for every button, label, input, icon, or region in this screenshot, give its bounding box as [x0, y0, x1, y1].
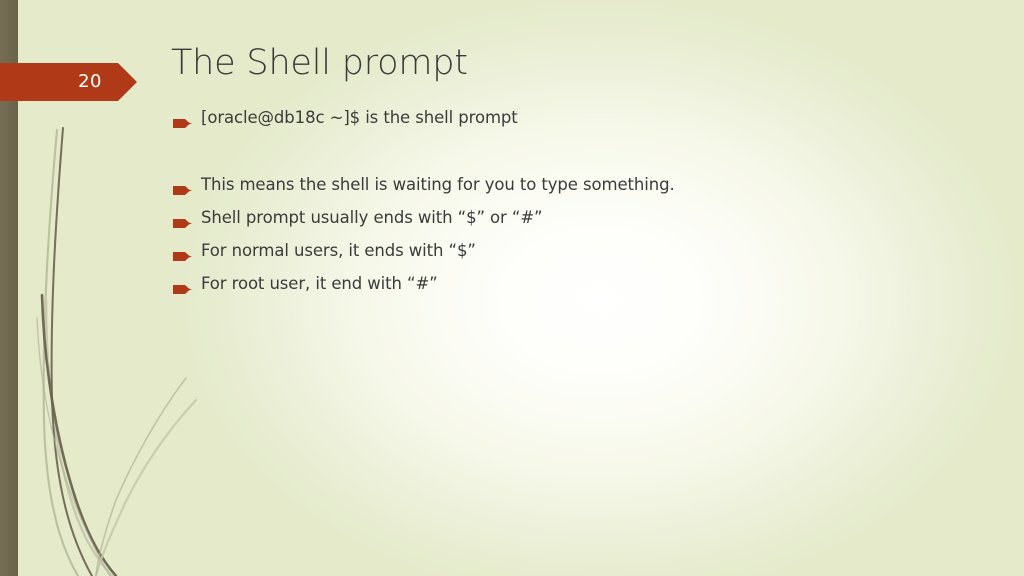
- pennant-bullet-icon: [171, 212, 201, 238]
- slide-number-text: 20: [0, 63, 102, 101]
- list-item-label: [oracle@db18c ~]$ is the shell prompt: [201, 105, 961, 131]
- slide-number-badge: 20: [0, 63, 137, 101]
- list-item: Shell prompt usually ends with “$” or “#…: [171, 205, 961, 238]
- pennant-bullet-icon: [171, 112, 201, 138]
- pennant-bullet-icon: [171, 179, 201, 205]
- list-item: For root user, it end with “#”: [171, 271, 961, 304]
- list-item: [oracle@db18c ~]$ is the shell prompt: [171, 105, 961, 138]
- list-item-label: For normal users, it ends with “$”: [201, 238, 961, 264]
- page-title: The Shell prompt: [171, 41, 971, 85]
- slide-canvas: 20 The Shell prompt [oracle@db18c ~]$ is…: [0, 0, 1024, 576]
- pennant-bullet-icon: [171, 245, 201, 271]
- list-item-label: For root user, it end with “#”: [201, 271, 961, 297]
- list-item-label: Shell prompt usually ends with “$” or “#…: [201, 205, 961, 231]
- pennant-bullet-icon: [171, 278, 201, 304]
- list-item: For normal users, it ends with “$”: [171, 238, 961, 271]
- list-item-label: This means the shell is waiting for you …: [201, 172, 961, 198]
- bullet-list: [oracle@db18c ~]$ is the shell prompt Th…: [171, 105, 961, 304]
- list-item: This means the shell is waiting for you …: [171, 172, 961, 205]
